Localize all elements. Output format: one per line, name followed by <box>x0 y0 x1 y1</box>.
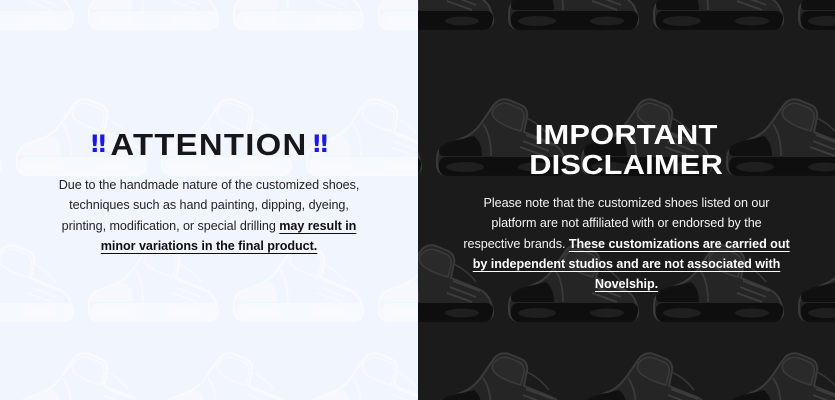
disclaimer-heading: IMPORTANT DISCLAIMER <box>530 120 724 180</box>
double-exclamation-icon-left: ‼ <box>91 132 105 156</box>
disclaimer-panel: IMPORTANT DISCLAIMER Please note that th… <box>418 0 835 400</box>
disclaimer-heading-line1: IMPORTANT <box>530 120 724 150</box>
customization-notice-banner: ‼ ATTENTION ‼ Due to the handmade nature… <box>0 0 835 400</box>
attention-body: Due to the handmade nature of the custom… <box>49 175 369 257</box>
attention-heading: ‼ ATTENTION ‼ <box>91 129 327 160</box>
disclaimer-heading-line2: DISCLAIMER <box>530 150 724 180</box>
double-exclamation-icon-right: ‼ <box>313 132 327 156</box>
attention-panel: ‼ ATTENTION ‼ Due to the handmade nature… <box>0 0 418 400</box>
attention-heading-text: ATTENTION <box>110 129 307 160</box>
disclaimer-body: Please note that the customized shoes li… <box>462 193 792 295</box>
